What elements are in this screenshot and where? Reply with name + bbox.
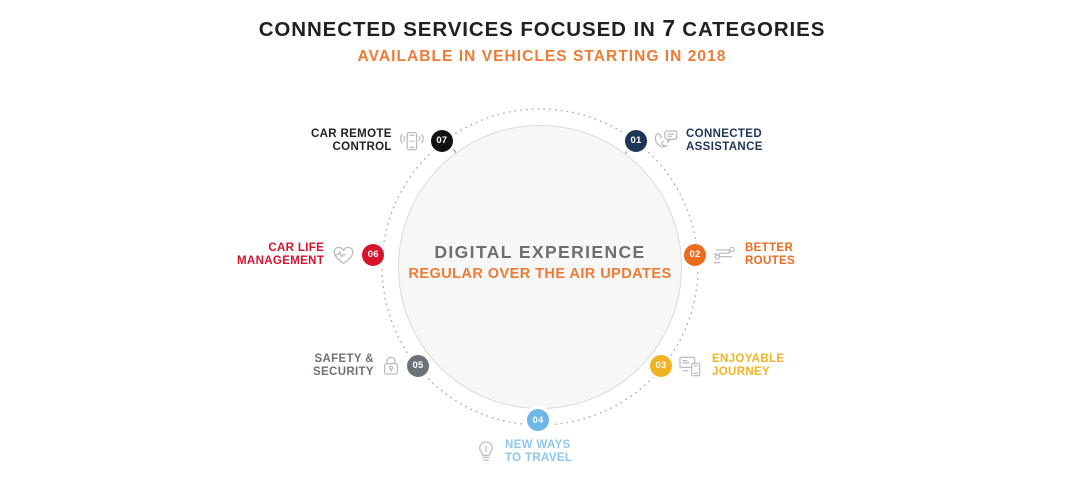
label-04-line2: TO TRAVEL (505, 452, 572, 465)
badge-07[interactable]: 07 (431, 130, 453, 152)
center-label: DIGITAL EXPERIENCE REGULAR OVER THE AIR … (398, 242, 682, 282)
label-05: SAFETY & SECURITY (313, 353, 374, 379)
label-02-line1: BETTER (745, 242, 793, 254)
badge-03[interactable]: 03 (650, 355, 672, 377)
label-04: NEW WAYS TO TRAVEL (505, 439, 572, 465)
badge-05[interactable]: 05 (407, 355, 429, 377)
category-node-03[interactable]: 03 ENJOYABLE JOURNEY (650, 353, 784, 379)
label-04-line1: NEW WAYS (505, 439, 571, 451)
label-01: CONNECTED ASSISTANCE (686, 128, 763, 154)
label-02-line2: ROUTES (745, 255, 795, 268)
heart-pulse-icon (331, 243, 356, 267)
category-node-02[interactable]: 02 BETTER ROUTES (684, 242, 795, 268)
label-06-line1: CAR LIFE (268, 242, 324, 254)
badge-06[interactable]: 06 (362, 244, 384, 266)
label-06: CAR LIFE MANAGEMENT (237, 242, 324, 268)
category-node-01[interactable]: 01 CONNECTED ASSISTANCE (625, 128, 763, 154)
padlock-icon (381, 354, 401, 378)
label-03-line2: JOURNEY (712, 366, 784, 379)
category-node-05[interactable]: SAFETY & SECURITY 05 (313, 353, 429, 379)
label-07-line2: CONTROL (311, 141, 392, 154)
route-icon (712, 243, 738, 267)
label-03: ENJOYABLE JOURNEY (712, 353, 784, 379)
category-node-07[interactable]: CAR REMOTE CONTROL 07 (311, 128, 453, 154)
badge-02[interactable]: 02 (684, 244, 706, 266)
category-node-04[interactable]: NEW WAYS TO TRAVEL (475, 439, 572, 465)
lightbulb-icon (475, 439, 497, 465)
label-01-line1: CONNECTED (686, 128, 762, 140)
label-02: BETTER ROUTES (745, 242, 795, 268)
label-06-line2: MANAGEMENT (237, 255, 324, 268)
label-01-line2: ASSISTANCE (686, 141, 763, 154)
label-03-line1: ENJOYABLE (712, 353, 784, 365)
label-07: CAR REMOTE CONTROL (311, 128, 392, 154)
center-subtitle: REGULAR OVER THE AIR UPDATES (398, 266, 682, 282)
category-node-06[interactable]: CAR LIFE MANAGEMENT 06 (237, 242, 384, 268)
smartphone-remote-icon (399, 129, 425, 153)
center-title: DIGITAL EXPERIENCE (398, 242, 682, 263)
badge-01[interactable]: 01 (625, 130, 647, 152)
badge-04[interactable]: 04 (527, 409, 549, 431)
screen-phone-icon (678, 354, 705, 378)
label-05-line1: SAFETY & (314, 353, 373, 365)
label-05-line2: SECURITY (313, 366, 374, 379)
label-07-line1: CAR REMOTE (311, 128, 392, 140)
phone-chat-icon (653, 129, 679, 153)
radial-diagram: DIGITAL EXPERIENCE REGULAR OVER THE AIR … (0, 0, 1084, 494)
